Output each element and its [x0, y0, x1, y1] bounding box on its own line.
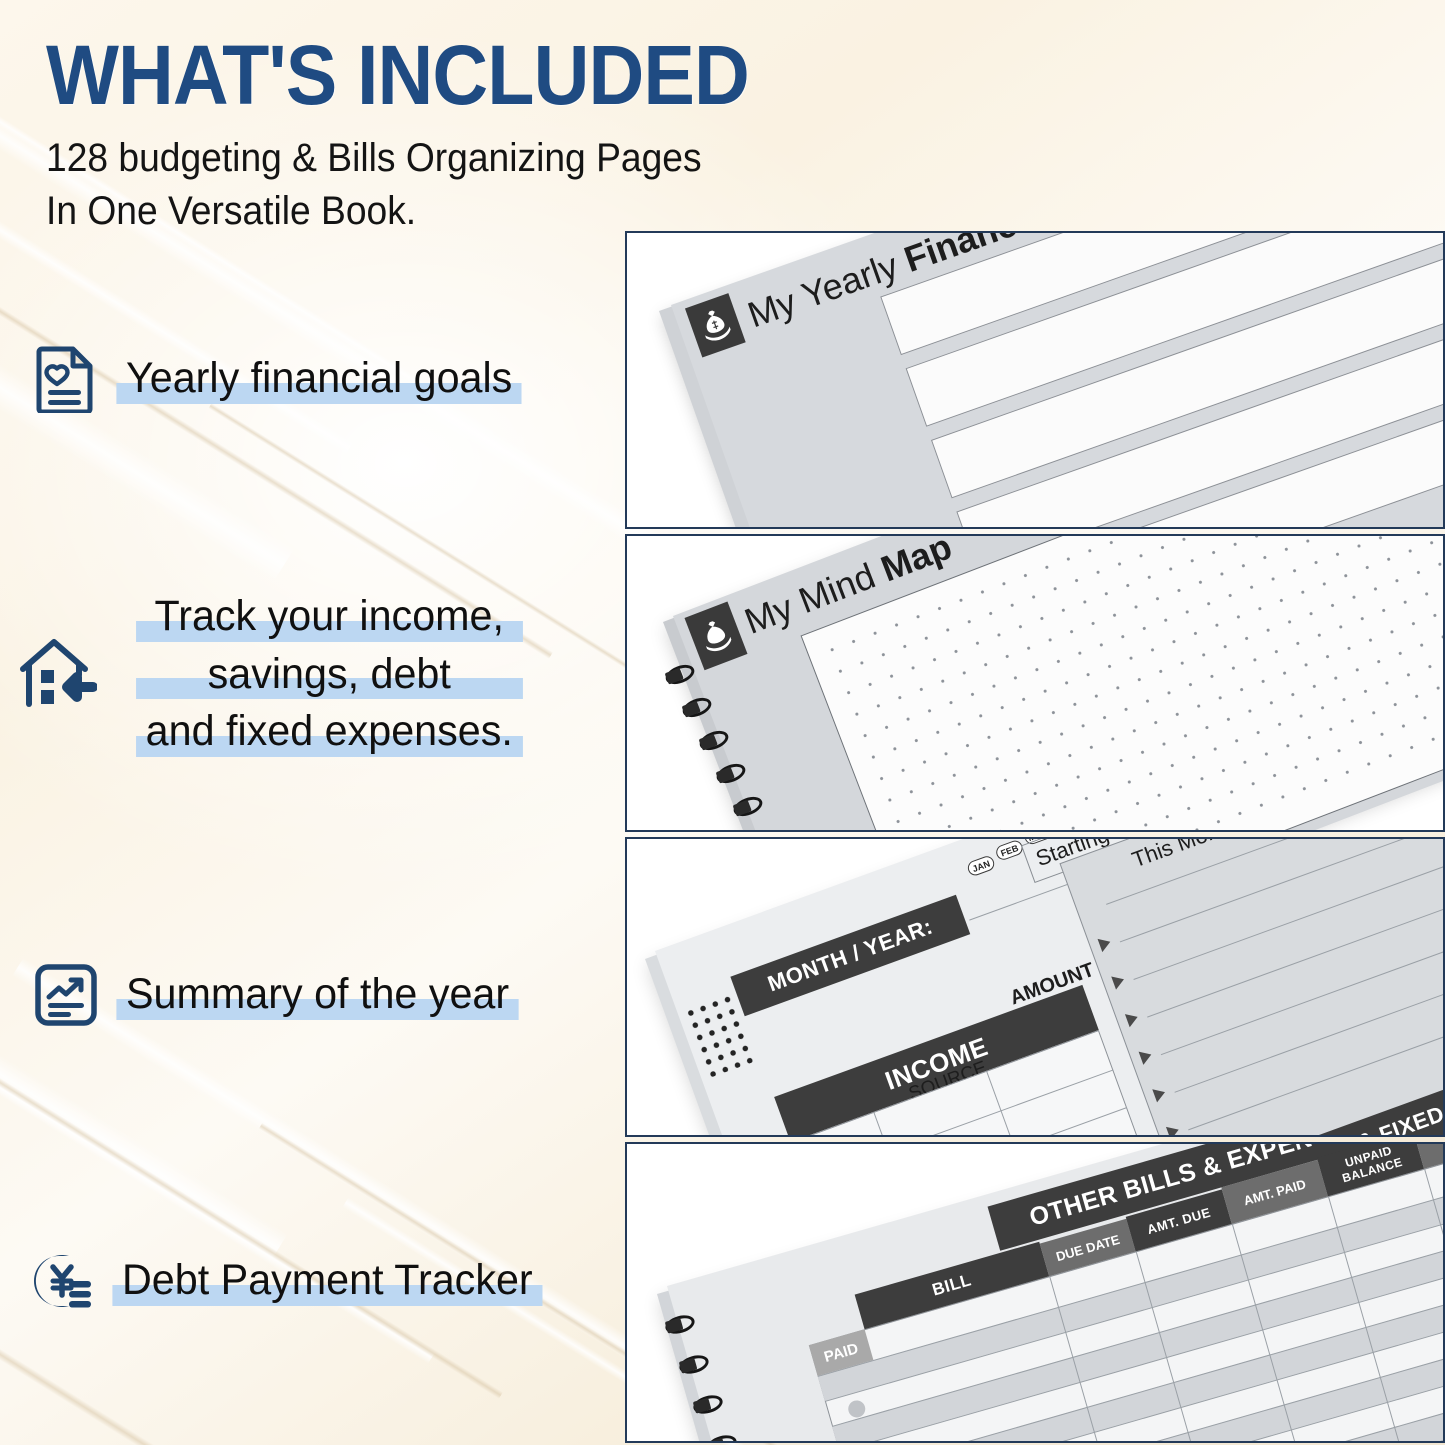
spiral-binding	[647, 666, 807, 832]
feature-item-track-income: Track your income, savings, debt and fix…	[12, 588, 521, 761]
monthly-budget-photo: MONTH / YEAR: JAN FEB MAR APR MAY JUN JU…	[625, 837, 1445, 1137]
month-year-header: MONTH / YEAR:	[730, 895, 970, 1017]
feature-line: and fixed expenses.	[146, 703, 513, 761]
feature-line: Yearly financial goals	[126, 350, 512, 408]
feature-line: Summary of the year	[126, 966, 509, 1024]
feature-item-debt-tracker: Debt Payment Tracker	[24, 1238, 550, 1324]
yearly-financial-goals-photo: My Yearly Financial Goals	[625, 231, 1445, 529]
header: WHAT'S INCLUDED 128 budgeting & Bills Or…	[46, 34, 1106, 238]
subtitle-line-1: 128 budgeting & Bills Organizing Pages	[46, 132, 1032, 185]
subtitle: 128 budgeting & Bills Organizing Pages I…	[46, 132, 1106, 238]
month-pill: FEB	[994, 839, 1025, 862]
house-arrow-in-icon	[12, 619, 104, 729]
currency-coins-icon	[24, 1238, 100, 1324]
feature-line: Debt Payment Tracker	[122, 1252, 533, 1310]
document-heart-icon	[28, 336, 104, 422]
feature-text: Yearly financial goals	[126, 350, 528, 408]
money-bag-hand-icon	[685, 293, 746, 357]
feature-text: Track your income, savings, debt and fix…	[138, 588, 521, 761]
money-bag-hand-icon	[684, 602, 747, 671]
spiral-binding	[649, 1316, 809, 1443]
page-title: WHAT'S INCLUDED	[46, 34, 1021, 116]
month-pill: JAN	[966, 854, 997, 877]
feature-line: savings, debt	[146, 646, 513, 704]
feature-text: Summary of the year	[126, 966, 525, 1024]
feature-item-summary-year: Summary of the year	[28, 952, 525, 1038]
feature-text: Debt Payment Tracker	[122, 1252, 550, 1310]
subtitle-line-2: In One Versatile Book.	[46, 185, 1032, 238]
mind-map-photo: My Mind Map	[625, 534, 1445, 832]
feature-line: Track your income,	[146, 588, 513, 646]
report-trend-up-icon	[28, 952, 104, 1038]
feature-item-yearly-goals: Yearly financial goals	[28, 336, 528, 422]
other-bills-expenses-photo: OTHER BILLS & EXPENSES PAID BILL DUE DAT…	[625, 1142, 1445, 1443]
